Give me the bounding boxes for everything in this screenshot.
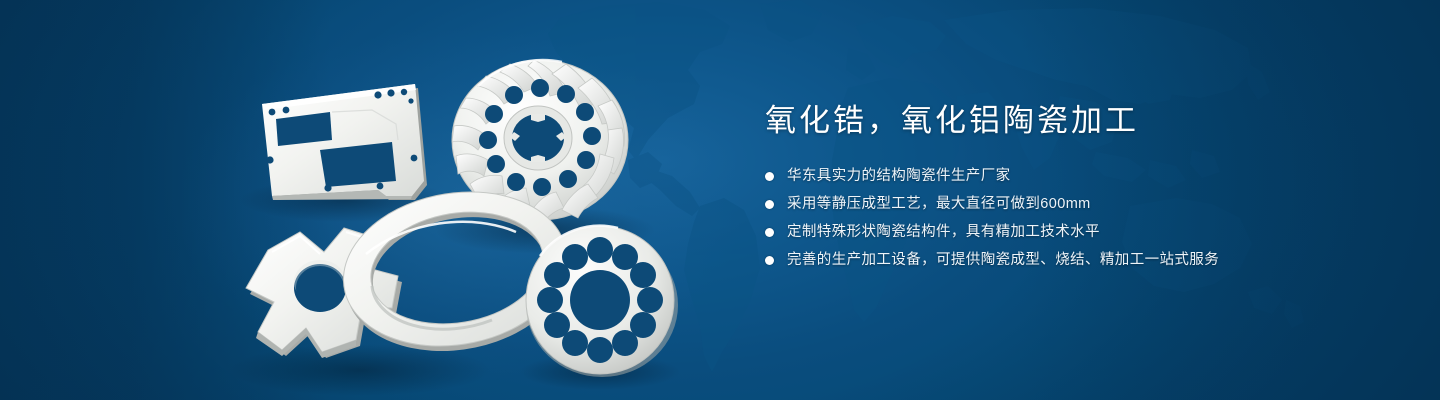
ceramic-plate-shape [262,84,427,200]
list-item: 定制特殊形状陶瓷结构件，具有精加工技术水平 [765,220,1385,244]
hero-banner: 氧化锆，氧化铝陶瓷加工 华东具实力的结构陶瓷件生产厂家 采用等静压成型工艺，最大… [0,0,1440,400]
bullet-dot-icon [765,256,774,265]
bullet-dot-icon [765,172,774,181]
list-item: 完善的生产加工设备，可提供陶瓷成型、烧结、精加工一站式服务 [765,248,1385,272]
product-image-group [0,0,760,400]
text-column: 氧化锆，氧化铝陶瓷加工 华东具实力的结构陶瓷件生产厂家 采用等静压成型工艺，最大… [765,104,1385,276]
bullet-dot-icon [765,228,774,237]
ceramic-perforated-disc-shape [526,226,678,377]
page-title: 氧化锆，氧化铝陶瓷加工 [765,104,1385,138]
list-item-label: 定制特殊形状陶瓷结构件，具有精加工技术水平 [787,222,1100,242]
list-item: 采用等静压成型工艺，最大直径可做到600mm [765,192,1385,216]
bullet-dot-icon [765,200,774,209]
list-item-label: 华东具实力的结构陶瓷件生产厂家 [787,166,1011,186]
list-item-label: 完善的生产加工设备，可提供陶瓷成型、烧结、精加工一站式服务 [787,250,1219,270]
list-item-label: 采用等静压成型工艺，最大直径可做到600mm [787,194,1091,214]
list-item: 华东具实力的结构陶瓷件生产厂家 [765,164,1385,188]
feature-list: 华东具实力的结构陶瓷件生产厂家 采用等静压成型工艺，最大直径可做到600mm 定… [765,164,1385,272]
